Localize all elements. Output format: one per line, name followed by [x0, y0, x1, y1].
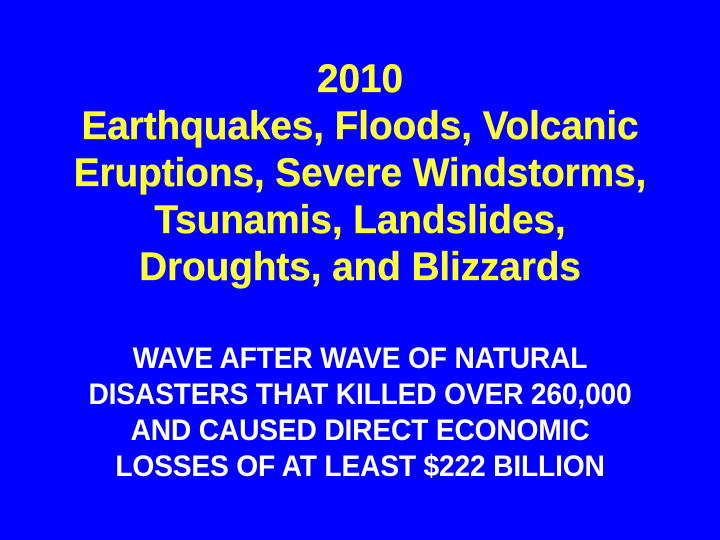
slide-title: 2010 Earthquakes, Floods, Volcanic Erupt… — [0, 56, 720, 291]
title-line-4: Droughts, and Blizzards — [11, 244, 709, 291]
slide-subtitle: WAVE AFTER WAVE OF NATURAL DISASTERS THA… — [0, 341, 720, 485]
presentation-slide: 2010 Earthquakes, Floods, Volcanic Erupt… — [0, 0, 720, 540]
title-line-1: Earthquakes, Floods, Volcanic — [11, 103, 709, 150]
title-line-3: Tsunamis, Landslides, — [11, 197, 709, 244]
subtitle-line-4: LOSSES OF AT LEAST $222 BILLION — [22, 449, 699, 485]
subtitle-line-2: DISASTERS THAT KILLED OVER 260,000 — [22, 377, 699, 413]
subtitle-line-1: WAVE AFTER WAVE OF NATURAL — [22, 341, 699, 377]
title-line-2: Eruptions, Severe Windstorms, — [11, 150, 709, 197]
title-line-year: 2010 — [11, 56, 709, 103]
subtitle-line-3: AND CAUSED DIRECT ECONOMIC — [22, 413, 699, 449]
